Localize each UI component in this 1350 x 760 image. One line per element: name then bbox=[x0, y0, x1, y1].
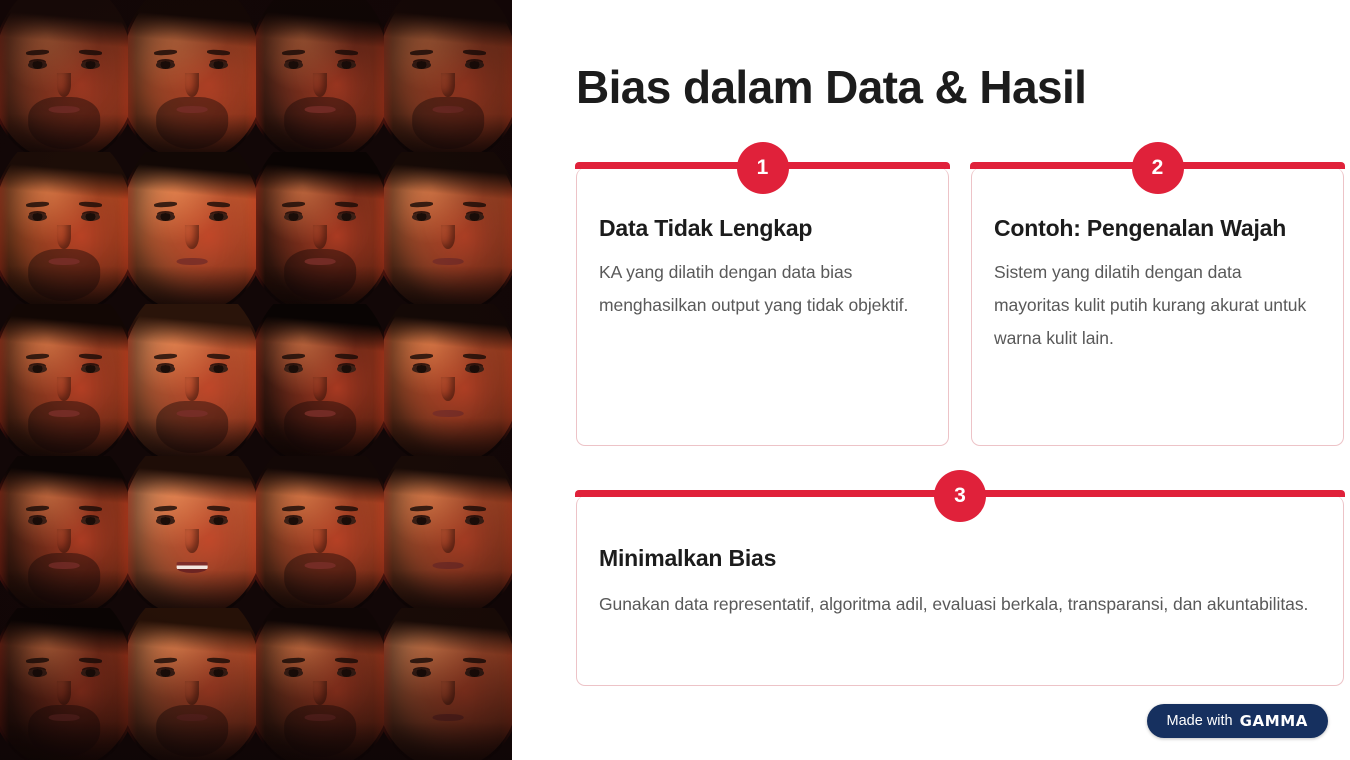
gamma-wordmark: GAMMA bbox=[1240, 712, 1308, 730]
face-portrait bbox=[0, 608, 128, 760]
face-portrait bbox=[128, 152, 256, 304]
card-1-body: KA yang dilatih dengan data bias menghas… bbox=[599, 256, 926, 322]
face-portrait bbox=[256, 0, 384, 152]
face-portrait bbox=[128, 304, 256, 456]
card-2-title: Contoh: Pengenalan Wajah bbox=[994, 214, 1321, 244]
face-portrait bbox=[384, 608, 512, 760]
cards-row: 1 Data Tidak Lengkap KA yang dilatih den… bbox=[576, 168, 1344, 446]
face-portrait bbox=[0, 0, 128, 152]
face-portrait bbox=[0, 304, 128, 456]
face-portrait bbox=[384, 152, 512, 304]
face-portrait bbox=[384, 0, 512, 152]
card-3-number-badge: 3 bbox=[934, 470, 986, 522]
face-portrait bbox=[256, 152, 384, 304]
card-3-body: Gunakan data representatif, algoritma ad… bbox=[599, 588, 1321, 621]
content-panel: Bias dalam Data & Hasil 1 Data Tidak Len… bbox=[512, 0, 1350, 760]
face-portrait bbox=[384, 456, 512, 608]
page-title: Bias dalam Data & Hasil bbox=[576, 62, 1086, 114]
card-1-title: Data Tidak Lengkap bbox=[599, 214, 926, 244]
made-with-label: Made with bbox=[1167, 713, 1233, 729]
card-3-title: Minimalkan Bias bbox=[599, 544, 1321, 574]
card-1-number-badge: 1 bbox=[737, 142, 789, 194]
card-3[interactable]: 3 Minimalkan Bias Gunakan data represent… bbox=[576, 496, 1344, 686]
faces-grid bbox=[0, 0, 512, 760]
card-2-number-badge: 2 bbox=[1132, 142, 1184, 194]
card-1[interactable]: 1 Data Tidak Lengkap KA yang dilatih den… bbox=[576, 168, 949, 446]
face-portrait bbox=[256, 608, 384, 760]
face-portrait bbox=[128, 608, 256, 760]
card-2[interactable]: 2 Contoh: Pengenalan Wajah Sistem yang d… bbox=[971, 168, 1344, 446]
hero-image-faces-collage bbox=[0, 0, 512, 760]
face-portrait bbox=[0, 456, 128, 608]
face-portrait bbox=[0, 152, 128, 304]
slide: Bias dalam Data & Hasil 1 Data Tidak Len… bbox=[0, 0, 1350, 760]
made-with-gamma-badge[interactable]: Made with GAMMA bbox=[1147, 704, 1328, 738]
card-2-body: Sistem yang dilatih dengan data mayorita… bbox=[994, 256, 1321, 355]
face-portrait bbox=[128, 0, 256, 152]
face-portrait bbox=[384, 304, 512, 456]
face-portrait bbox=[256, 456, 384, 608]
face-portrait bbox=[128, 456, 256, 608]
face-portrait bbox=[256, 304, 384, 456]
